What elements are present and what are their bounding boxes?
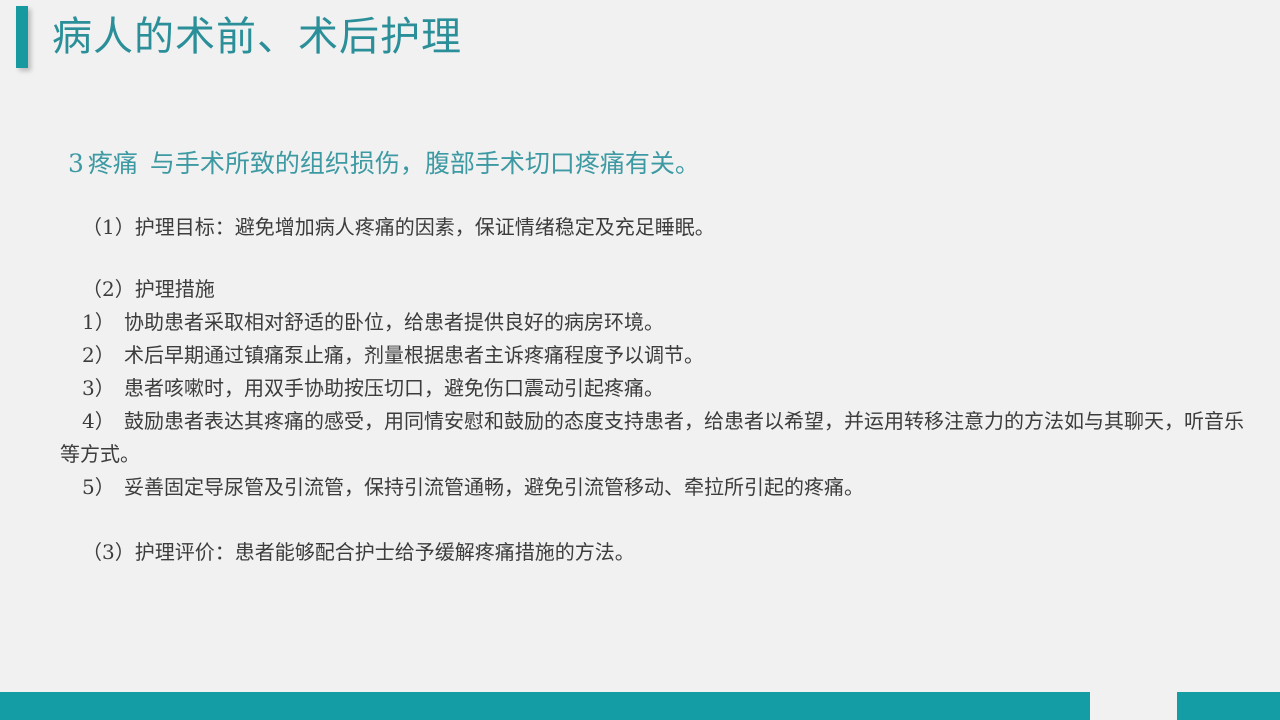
list-item-marker: 4） bbox=[82, 405, 124, 438]
footer-bar-main bbox=[0, 692, 1090, 720]
slide-content: 3疼痛与手术所致的组织损伤，腹部手术切口疼痛有关。 （1）护理目标：避免增加病人… bbox=[0, 146, 1280, 569]
nursing-measures-list: 1）协助患者采取相对舒适的卧位，给患者提供良好的病房环境。 2）术后早期通过镇痛… bbox=[82, 306, 1280, 504]
footer-bar-accent bbox=[1177, 692, 1280, 720]
section-description: 与手术所致的组织损伤，腹部手术切口疼痛有关。 bbox=[150, 149, 700, 178]
list-item-text: 鼓励患者表达其疼痛的感受，用同情安慰和鼓励的态度支持患者，给患者以希望，并运用转… bbox=[60, 409, 1244, 466]
list-item-text: 协助患者采取相对舒适的卧位，给患者提供良好的病房环境。 bbox=[124, 310, 664, 334]
list-item-marker: 5） bbox=[82, 471, 124, 504]
page-title: 病人的术前、术后护理 bbox=[52, 6, 462, 68]
section-heading: 3疼痛与手术所致的组织损伤，腹部手术切口疼痛有关。 bbox=[0, 146, 1280, 182]
title-accent-bar bbox=[16, 6, 28, 68]
list-item-text: 术后早期通过镇痛泵止痛，剂量根据患者主诉疼痛程度予以调节。 bbox=[124, 343, 704, 367]
list-item: 5）妥善固定导尿管及引流管，保持引流管通畅，避免引流管移动、牵拉所引起的疼痛。 bbox=[82, 471, 1280, 504]
nursing-evaluation-block: （3）护理评价：患者能够配合护士给予缓解疼痛措施的方法。 bbox=[0, 536, 1280, 569]
nursing-measures-heading: （2）护理措施 bbox=[82, 273, 1280, 306]
nursing-measures-block: （2）护理措施 1）协助患者采取相对舒适的卧位，给患者提供良好的病房环境。 2）… bbox=[0, 273, 1280, 504]
list-item-text: 患者咳嗽时，用双手协助按压切口，避免伤口震动引起疼痛。 bbox=[124, 376, 664, 400]
nursing-goal-text: （1）护理目标：避免增加病人疼痛的因素，保证情绪稳定及充足睡眠。 bbox=[82, 211, 1280, 244]
list-item: 4）鼓励患者表达其疼痛的感受，用同情安慰和鼓励的态度支持患者，给患者以希望，并运… bbox=[60, 405, 1260, 471]
nursing-goal-block: （1）护理目标：避免增加病人疼痛的因素，保证情绪稳定及充足睡眠。 bbox=[0, 211, 1280, 244]
list-item-marker: 1） bbox=[82, 306, 124, 339]
nursing-evaluation-text: （3）护理评价：患者能够配合护士给予缓解疼痛措施的方法。 bbox=[82, 536, 1280, 569]
list-item: 2）术后早期通过镇痛泵止痛，剂量根据患者主诉疼痛程度予以调节。 bbox=[82, 339, 1280, 372]
section-number: 3 bbox=[68, 149, 84, 178]
list-item: 3）患者咳嗽时，用双手协助按压切口，避免伤口震动引起疼痛。 bbox=[82, 372, 1280, 405]
list-item: 1）协助患者采取相对舒适的卧位，给患者提供良好的病房环境。 bbox=[82, 306, 1280, 339]
list-item-marker: 3） bbox=[82, 372, 124, 405]
list-item-marker: 2） bbox=[82, 339, 124, 372]
list-item-text: 妥善固定导尿管及引流管，保持引流管通畅，避免引流管移动、牵拉所引起的疼痛。 bbox=[124, 475, 864, 499]
slide: 病人的术前、术后护理 3疼痛与手术所致的组织损伤，腹部手术切口疼痛有关。 （1）… bbox=[0, 0, 1280, 720]
section-name: 疼痛 bbox=[88, 149, 138, 178]
